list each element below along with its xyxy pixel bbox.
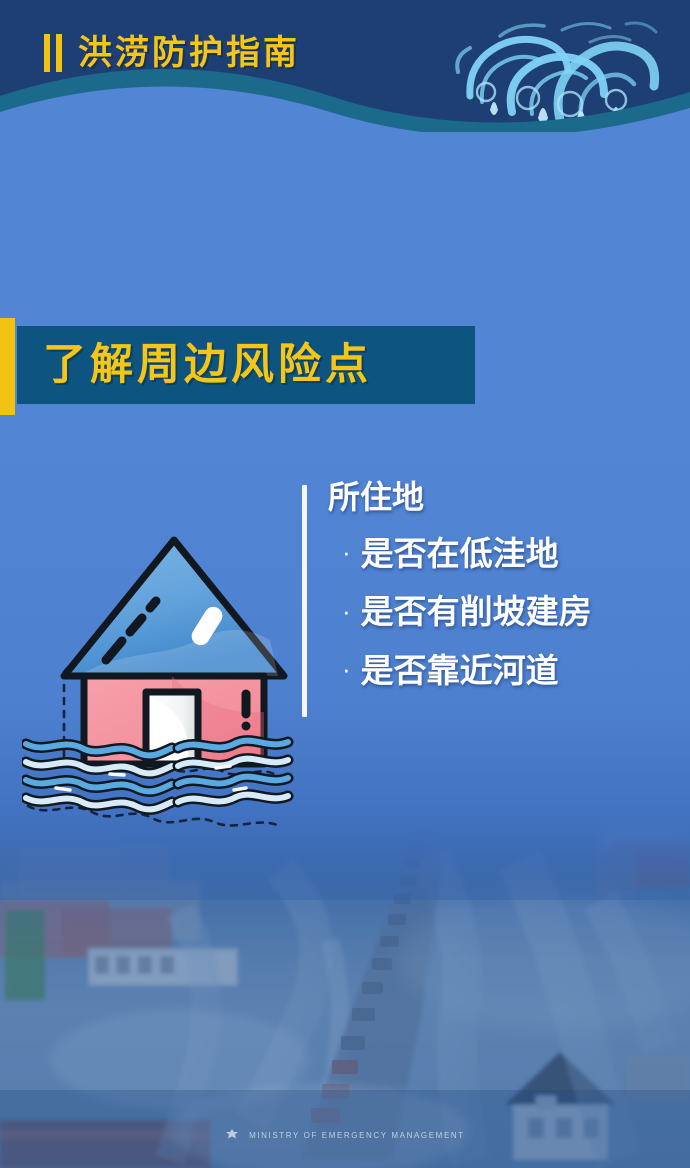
watermark-text: MINISTRY OF EMERGENCY MANAGEMENT [249, 1131, 465, 1140]
bullet-dot-icon: · [342, 656, 351, 682]
bullet-dot-icon: · [342, 539, 351, 565]
section-title: 了解周边风险点 [43, 344, 372, 387]
flooded-house-icon [22, 528, 296, 830]
poster-root: 洪涝防护指南 了解周边风险点 [0, 0, 690, 1168]
risk-list-block: 所住地 · 是否在低洼地 · 是否有削坡建房 · 是否靠近河道 [302, 480, 592, 690]
list-item-label: 是否靠近河道 [361, 654, 559, 690]
section-banner: 了解周边风险点 [17, 326, 475, 404]
list-item-label: 是否在低洼地 [361, 537, 559, 573]
list-heading: 所住地 [328, 480, 592, 515]
poster-header: 洪涝防护指南 [0, 0, 690, 132]
section-accent-bar [0, 318, 15, 415]
risk-list-inner: 所住地 · 是否在低洼地 · 是否有削坡建房 · 是否靠近河道 [328, 480, 592, 690]
emblem-icon [225, 1128, 239, 1142]
list-item: · 是否在低洼地 [342, 537, 592, 573]
list-item: · 是否靠近河道 [342, 654, 592, 690]
list-item-label: 是否有削坡建房 [361, 595, 592, 631]
list-item: · 是否有削坡建房 [342, 595, 592, 631]
header-wave-divider [0, 0, 690, 132]
watermark: MINISTRY OF EMERGENCY MANAGEMENT [0, 1128, 690, 1142]
vertical-divider-icon [302, 485, 307, 717]
bullet-dot-icon: · [342, 598, 351, 624]
